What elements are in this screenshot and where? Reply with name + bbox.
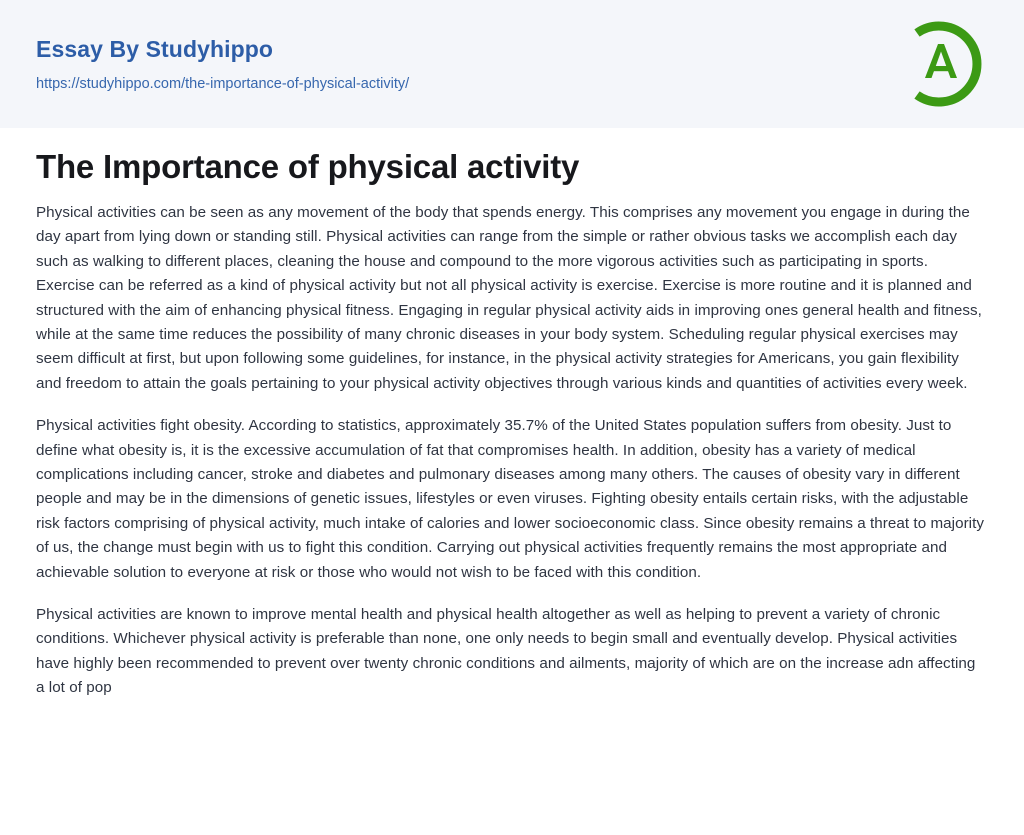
studyhippo-logo-icon — [892, 16, 988, 112]
page-title: The Importance of physical activity — [36, 148, 986, 187]
article-paragraph: Physical activities are known to improve… — [36, 603, 986, 701]
brand-block: Essay By Studyhippo https://studyhippo.c… — [36, 36, 409, 93]
article-paragraph: Physical activities fight obesity. Accor… — [36, 414, 986, 585]
article-container: The Importance of physical activity Phys… — [0, 128, 1024, 701]
brand-title: Essay By Studyhippo — [36, 36, 409, 64]
source-url-link[interactable]: https://studyhippo.com/the-importance-of… — [36, 76, 409, 93]
article-body: Physical activities can be seen as any m… — [36, 201, 986, 701]
page-header: Essay By Studyhippo https://studyhippo.c… — [0, 0, 1024, 128]
article-paragraph: Physical activities can be seen as any m… — [36, 201, 986, 396]
